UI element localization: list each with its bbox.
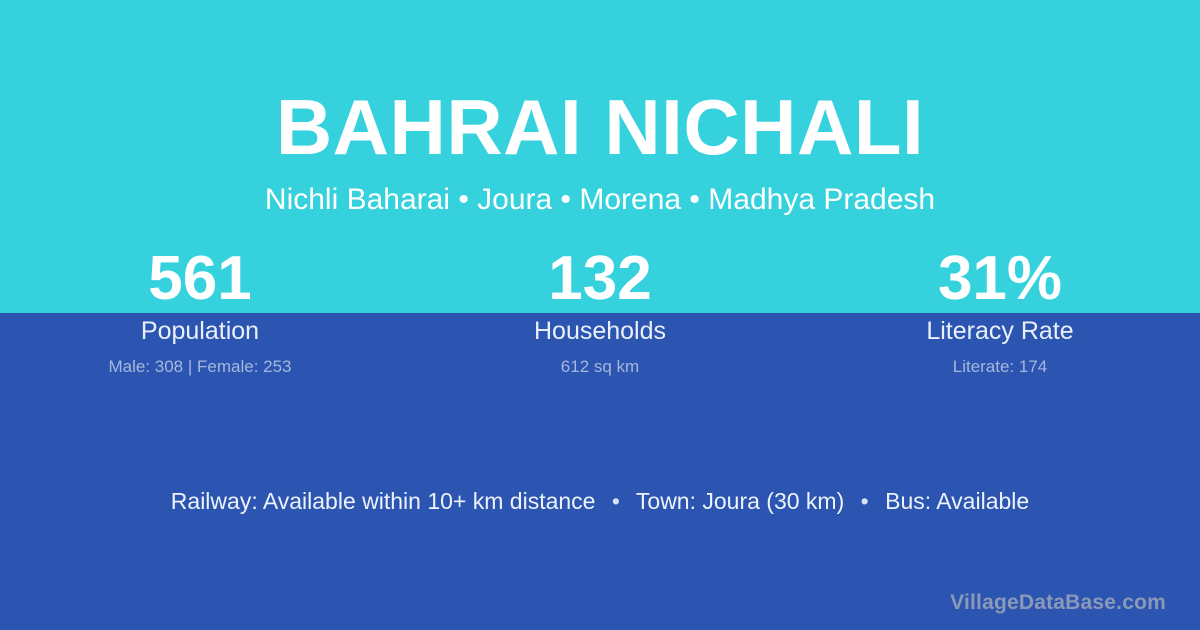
stat-population-detail: Male: 308 | Female: 253 (0, 356, 400, 377)
facility-bus: Bus: Available (885, 488, 1029, 514)
stat-households-value: 132 (400, 246, 800, 312)
page-title: BAHRAI NICHALI (0, 82, 1200, 172)
facility-railway: Railway: Available within 10+ km distanc… (171, 488, 596, 514)
stat-population-label: Population (0, 316, 400, 346)
stat-population: 561 Population Male: 308 | Female: 253 (0, 246, 400, 377)
stat-literacy-label: Literacy Rate (800, 316, 1200, 346)
facilities-line: Railway: Available within 10+ km distanc… (0, 486, 1200, 516)
stat-households-detail: 612 sq km (400, 356, 800, 377)
stat-literacy-detail: Literate: 174 (800, 356, 1200, 377)
site-watermark: VillageDataBase.com (950, 590, 1166, 616)
stat-literacy: 31% Literacy Rate Literate: 174 (800, 246, 1200, 377)
stat-literacy-value: 31% (800, 246, 1200, 312)
stat-population-value: 561 (0, 246, 400, 312)
location-breadcrumb: Nichli Baharai • Joura • Morena • Madhya… (0, 181, 1200, 219)
bullet-separator-icon: • (602, 488, 630, 514)
facility-town: Town: Joura (30 km) (636, 488, 844, 514)
stat-households: 132 Households 612 sq km (400, 246, 800, 377)
village-info-card: BAHRAI NICHALI Nichli Baharai • Joura • … (0, 0, 1200, 630)
stats-row: 561 Population Male: 308 | Female: 253 1… (0, 246, 1200, 377)
stat-households-label: Households (400, 316, 800, 346)
bullet-separator-icon: • (851, 488, 879, 514)
